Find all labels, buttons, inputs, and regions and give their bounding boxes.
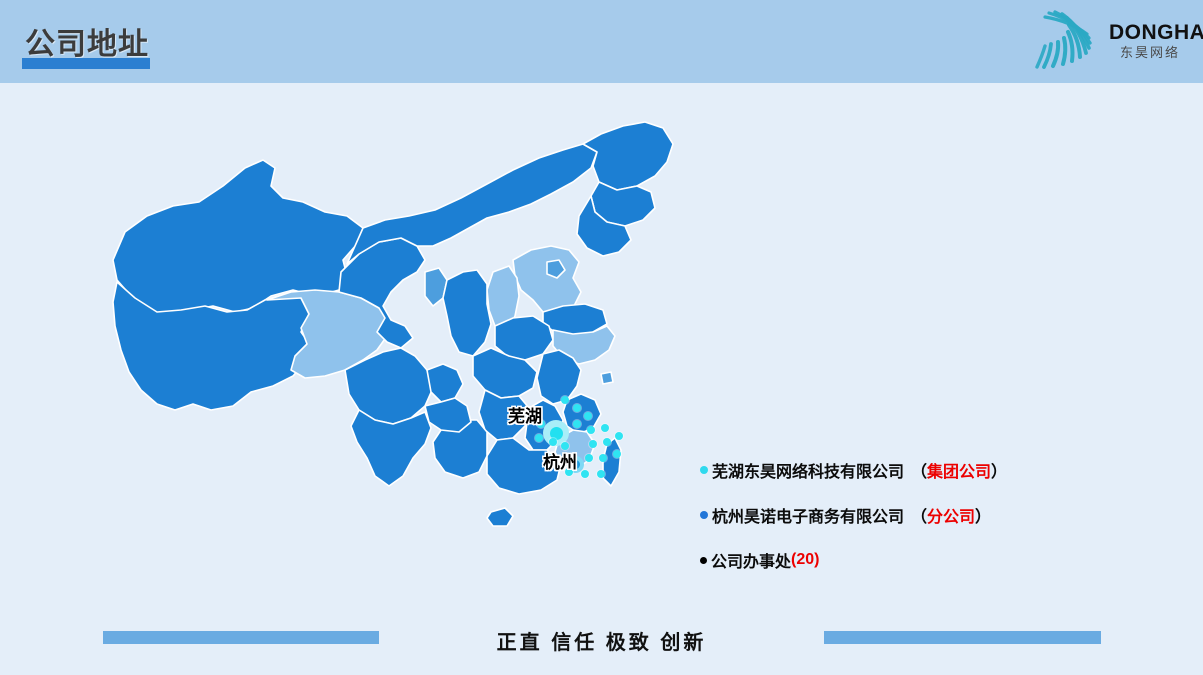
legend-tag: 分公司 bbox=[927, 503, 975, 527]
office-dot[interactable] bbox=[535, 434, 543, 442]
office-dot[interactable] bbox=[581, 470, 589, 478]
logo-text-block: DONGHAO 东昊网络 bbox=[1109, 22, 1195, 62]
office-dot[interactable] bbox=[613, 450, 621, 458]
office-dot[interactable] bbox=[584, 412, 592, 420]
legend-paren-open: （ bbox=[911, 503, 927, 527]
office-dot[interactable] bbox=[603, 438, 611, 446]
office-dot[interactable] bbox=[597, 470, 605, 478]
legend-item-branch-company: 杭州昊诺电子商务有限公司 （ 分公司 ） bbox=[700, 503, 1120, 527]
legend: 芜湖东昊网络科技有限公司 （ 集团公司 ） 杭州昊诺电子商务有限公司 （ 分公司… bbox=[700, 458, 1120, 593]
company-logo: DONGHAO 东昊网络 bbox=[1017, 4, 1195, 78]
office-dot[interactable] bbox=[585, 454, 593, 462]
office-dot[interactable] bbox=[587, 426, 595, 434]
office-dot[interactable] bbox=[573, 404, 581, 412]
legend-tag: 20 bbox=[796, 551, 814, 569]
legend-bullet-icon bbox=[700, 466, 708, 474]
china-map-svg bbox=[95, 120, 715, 600]
office-dot[interactable] bbox=[601, 424, 609, 432]
china-map-container: 芜湖 杭州 bbox=[95, 120, 715, 600]
logo-name: DONGHAO bbox=[1109, 22, 1195, 44]
map-label-wuhu: 芜湖 bbox=[508, 402, 542, 427]
logo-subtitle: 东昊网络 bbox=[1109, 44, 1195, 62]
office-dot[interactable] bbox=[549, 438, 557, 446]
legend-label: 芜湖东昊网络科技有限公司 bbox=[712, 458, 904, 482]
page-title: 公司地址 bbox=[25, 19, 149, 63]
fan-wing-logo-icon bbox=[1029, 8, 1107, 74]
office-dot[interactable] bbox=[589, 440, 597, 448]
office-dot[interactable] bbox=[561, 396, 569, 404]
legend-paren-open: （ bbox=[911, 458, 927, 482]
legend-item-offices: 公司办事处 ( 20 ) bbox=[700, 548, 1120, 572]
legend-paren-close: ） bbox=[991, 458, 1007, 482]
map-label-hangzhou: 杭州 bbox=[543, 448, 577, 473]
title-underline-bar bbox=[22, 58, 150, 69]
office-dot[interactable] bbox=[615, 432, 623, 440]
office-dot[interactable] bbox=[573, 420, 581, 428]
legend-label: 公司办事处 bbox=[711, 548, 791, 572]
footer-bar-right bbox=[824, 631, 1101, 644]
legend-tag: 集团公司 bbox=[927, 458, 991, 482]
legend-label: 杭州昊诺电子商务有限公司 bbox=[712, 503, 904, 527]
legend-paren-close: ） bbox=[975, 503, 991, 527]
legend-bullet-icon bbox=[700, 511, 708, 519]
legend-paren-close: ) bbox=[814, 551, 819, 569]
legend-bullet-icon bbox=[700, 557, 707, 564]
office-dot[interactable] bbox=[599, 454, 607, 462]
legend-item-group-company: 芜湖东昊网络科技有限公司 （ 集团公司 ） bbox=[700, 458, 1120, 482]
